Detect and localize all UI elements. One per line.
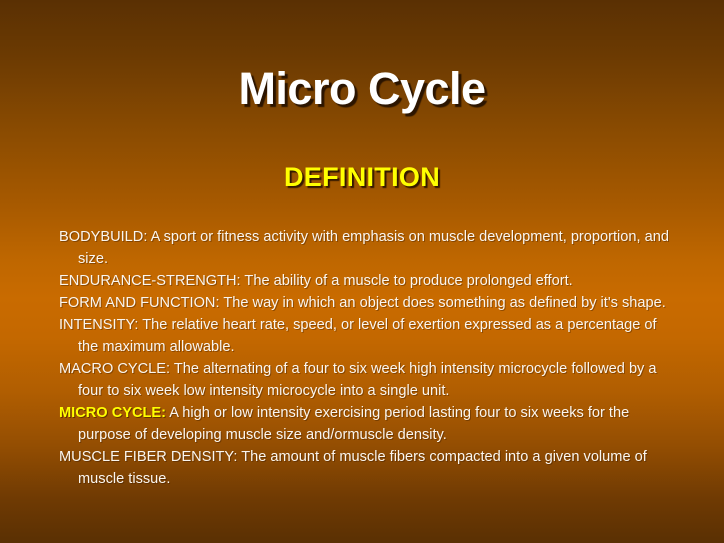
definition-term: MACRO CYCLE:: [59, 361, 170, 377]
definition-term: ENDURANCE-STRENGTH:: [59, 273, 241, 289]
slide-title: Micro Cycle: [0, 66, 724, 111]
presentation-slide: Micro Cycle DEFINITION BODYBUILD: A spor…: [0, 0, 724, 543]
definition-text: The way in which an object does somethin…: [220, 295, 666, 311]
definition-entry: INTENSITY: The relative heart rate, spee…: [59, 314, 673, 358]
definition-entry: ENDURANCE-STRENGTH: The ability of a mus…: [59, 270, 673, 292]
definition-term: MICRO CYCLE:: [59, 405, 166, 421]
definition-term: FORM AND FUNCTION:: [59, 295, 220, 311]
definition-text: A sport or fitness activity with emphasi…: [78, 229, 669, 267]
definition-entry: MACRO CYCLE: The alternating of a four t…: [59, 358, 673, 402]
definition-term: INTENSITY:: [59, 317, 138, 333]
definition-entry: BODYBUILD: A sport or fitness activity w…: [59, 226, 673, 270]
definition-term: BODYBUILD:: [59, 229, 147, 245]
definition-term: MUSCLE FIBER DENSITY:: [59, 449, 237, 465]
definition-entry: FORM AND FUNCTION: The way in which an o…: [59, 292, 673, 314]
definition-entry: MICRO CYCLE: A high or low intensity exe…: [59, 402, 673, 446]
definition-list: BODYBUILD: A sport or fitness activity w…: [59, 226, 673, 490]
definition-text: The relative heart rate, speed, or level…: [78, 317, 657, 355]
slide-subtitle: DEFINITION: [0, 164, 724, 191]
definition-text: The ability of a muscle to produce prolo…: [241, 273, 573, 289]
definition-entry: MUSCLE FIBER DENSITY: The amount of musc…: [59, 446, 673, 490]
